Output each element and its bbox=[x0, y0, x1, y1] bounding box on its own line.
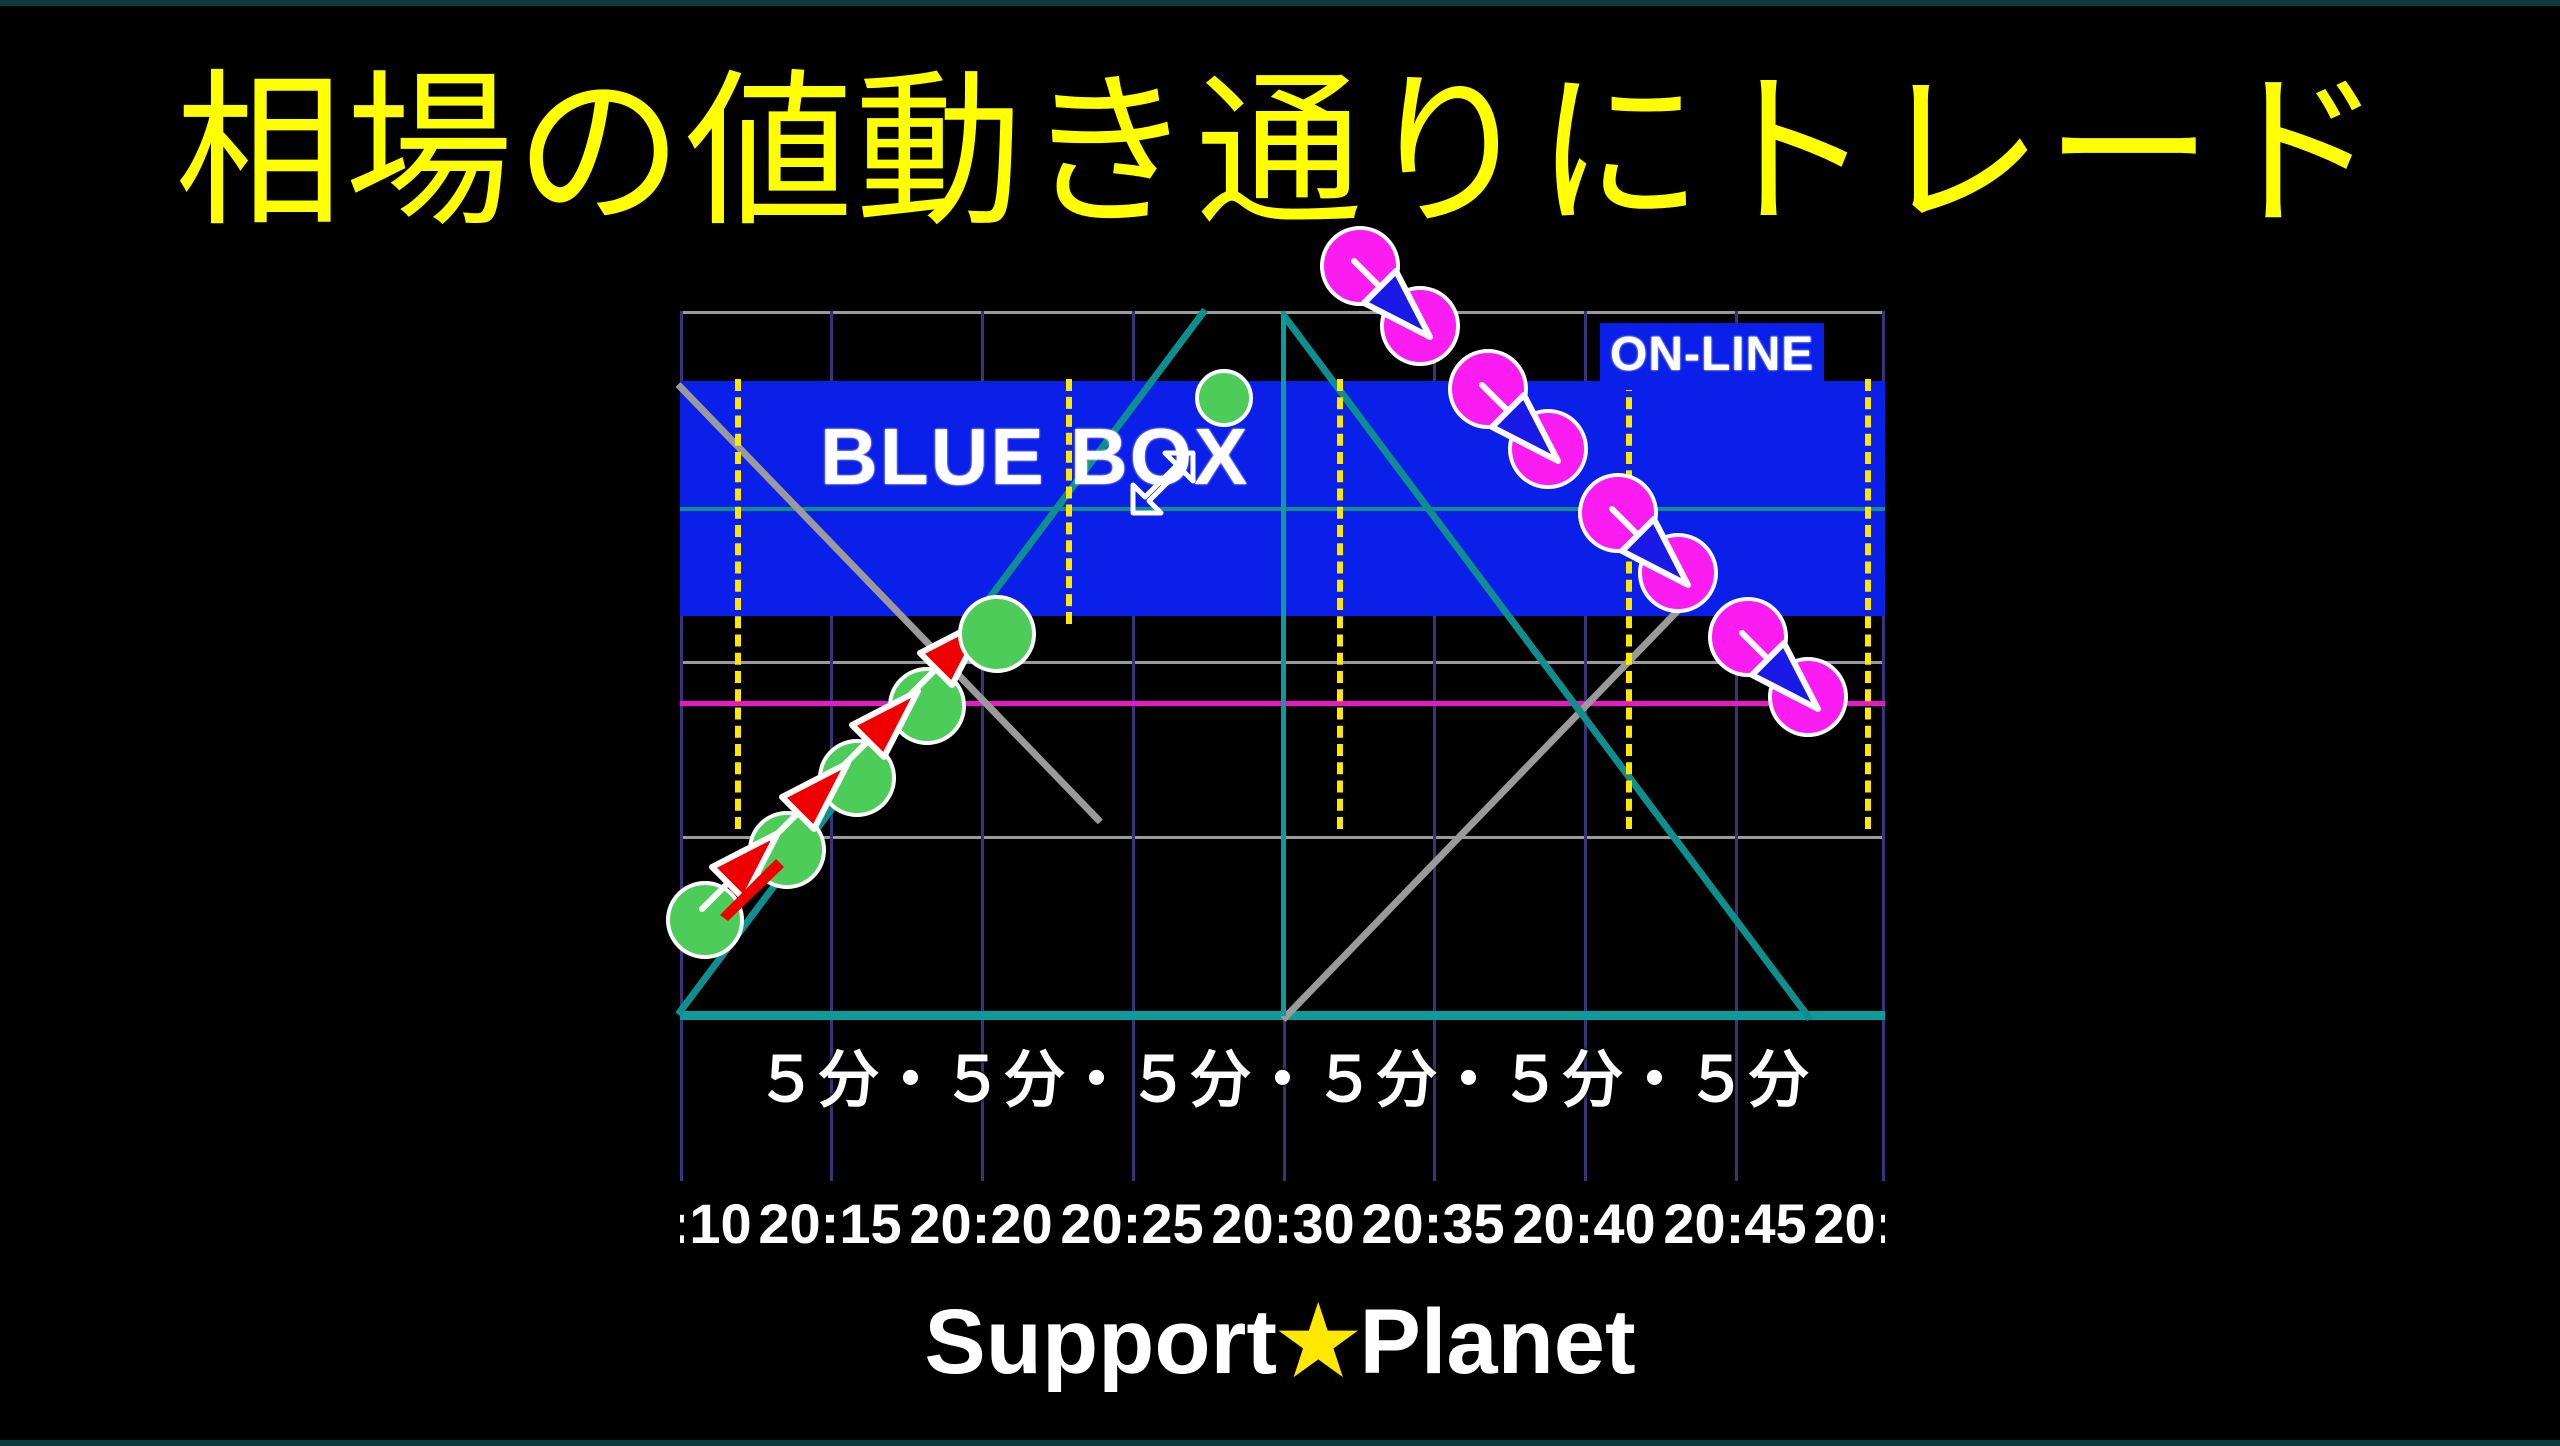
footer-brand-before: Support bbox=[924, 1291, 1277, 1393]
sell-arrow-down-icon bbox=[1470, 373, 1570, 473]
page-title: 相場の値動き通りにトレード bbox=[0, 68, 2560, 236]
dashed-divider bbox=[1865, 379, 1871, 829]
star-icon: ★ bbox=[1277, 1291, 1359, 1393]
price-chart[interactable]: BLUE BOX bbox=[680, 311, 1885, 1181]
dashed-divider bbox=[735, 379, 741, 829]
x-axis-labels: 20:10 20:15 20:20 20:25 20:30 20:35 20:4… bbox=[680, 1191, 1885, 1271]
sell-arrow-down-icon bbox=[1342, 249, 1442, 349]
x-tick-label: 20:30 bbox=[1211, 1191, 1354, 1256]
footer-brand: Support★Planet bbox=[0, 1288, 2560, 1395]
footer-brand-after: Planet bbox=[1359, 1291, 1635, 1393]
x-tick-label: 20:50 bbox=[1813, 1191, 1885, 1256]
status-badge-online: ON-LINE bbox=[1600, 323, 1824, 390]
slide-root: 相場の値動き通りにトレード bbox=[0, 0, 2560, 1446]
x-tick-label: 20:20 bbox=[909, 1191, 1052, 1256]
x-tick-label: 20:45 bbox=[1663, 1191, 1806, 1256]
dashed-divider bbox=[1337, 379, 1343, 829]
x-tick-label: 20:40 bbox=[1512, 1191, 1655, 1256]
resize-cursor-icon bbox=[1125, 439, 1215, 529]
dashed-divider bbox=[1626, 379, 1632, 829]
buy-marker-dot bbox=[958, 595, 1036, 673]
sell-arrow-down-icon bbox=[1730, 621, 1830, 721]
sell-arrow-down-icon bbox=[1600, 497, 1700, 597]
x-tick-label: 20:15 bbox=[758, 1191, 901, 1256]
marker-dot-neutral bbox=[1195, 369, 1253, 427]
x-tick-label: 20:10 bbox=[680, 1191, 752, 1256]
x-tick-label: 20:35 bbox=[1361, 1191, 1504, 1256]
interval-label-row: ５分・５分・５分・５分・５分・５分 bbox=[680, 1029, 1885, 1119]
x-tick-label: 20:25 bbox=[1060, 1191, 1203, 1256]
peak-vertical-teal bbox=[1281, 311, 1286, 1016]
